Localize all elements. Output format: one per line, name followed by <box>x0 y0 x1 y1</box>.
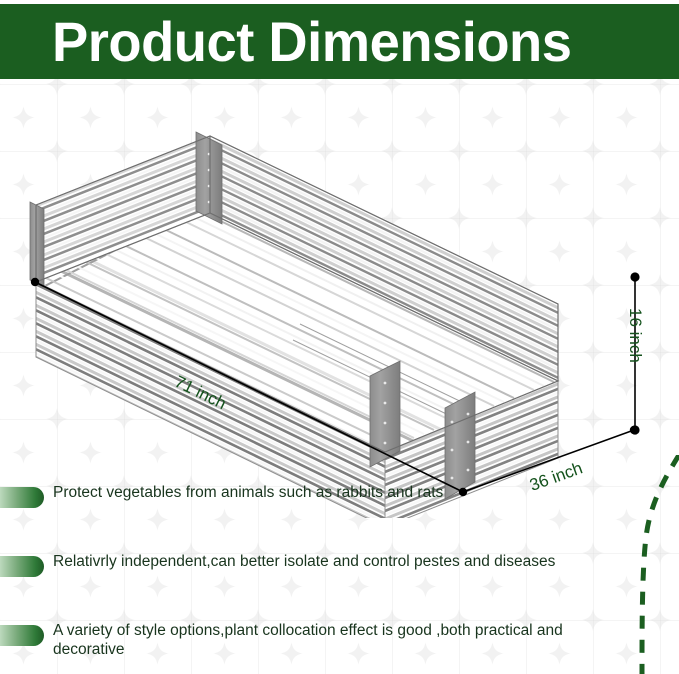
product-illustration <box>0 78 679 518</box>
header-banner: Product Dimensions <box>0 4 679 79</box>
planter-corner-post-left <box>30 202 44 287</box>
feature-text: Protect vegetables from animals such as … <box>53 484 443 503</box>
feature-item: Protect vegetables from animals such as … <box>0 484 640 508</box>
feature-item: Relativrly independent,can better isolat… <box>0 553 640 577</box>
feature-text: Relativrly independent,can better isolat… <box>53 553 555 572</box>
planter-corner-post-front-right <box>370 361 400 467</box>
green-pill-bullet-icon <box>0 556 44 577</box>
green-pill-bullet-icon <box>0 625 44 646</box>
planter-corner-post-back <box>196 132 222 224</box>
green-pill-bullet-icon <box>0 487 44 508</box>
dimension-label-height: 16 inch <box>625 308 645 363</box>
feature-item: A variety of style options,plant colloca… <box>0 622 640 659</box>
feature-text: A variety of style options,plant colloca… <box>53 622 618 659</box>
product-dimensions-infographic: Product Dimensions <box>0 0 679 674</box>
feature-list: Protect vegetables from animals such as … <box>0 480 679 674</box>
page-title: Product Dimensions <box>52 7 571 77</box>
